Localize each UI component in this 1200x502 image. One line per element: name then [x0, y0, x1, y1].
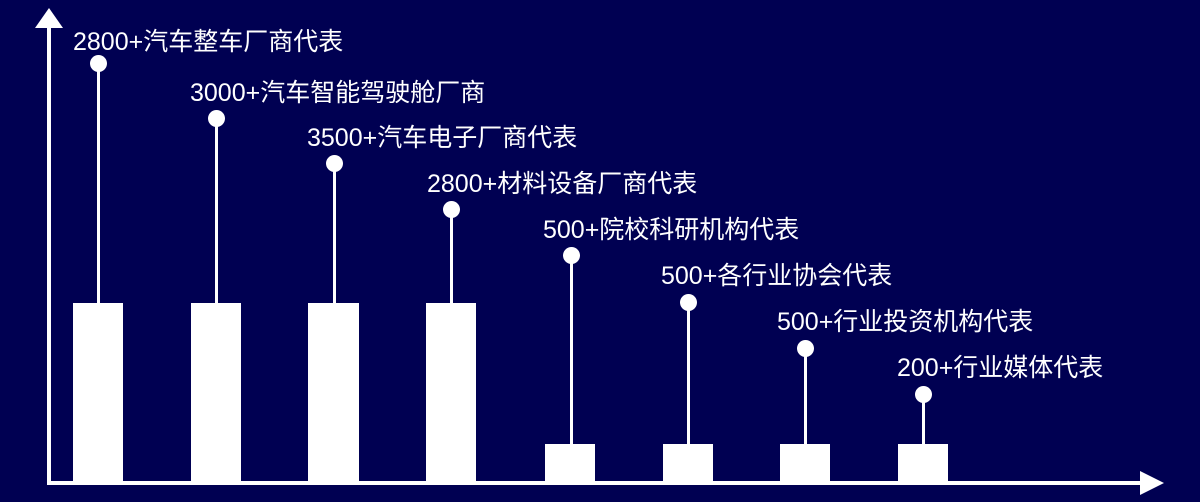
bar — [780, 444, 830, 481]
chart-canvas: 2800+汽车整车厂商代表3000+汽车智能驾驶舱厂商3500+汽车电子厂商代表… — [0, 0, 1200, 502]
callout-stem — [804, 348, 807, 444]
callout-dot-icon — [443, 201, 460, 218]
callout-stem — [450, 209, 453, 303]
bar-callout-label: 500+各行业协会代表 — [661, 261, 892, 291]
callout-stem — [333, 163, 336, 303]
callout-stem — [97, 63, 100, 303]
bar — [308, 303, 359, 481]
bar-callout-label: 3500+汽车电子厂商代表 — [307, 123, 577, 153]
bar — [545, 444, 595, 481]
bar — [663, 444, 713, 481]
x-axis-arrow-icon — [1140, 471, 1164, 495]
callout-dot-icon — [680, 294, 697, 311]
callout-dot-icon — [208, 110, 225, 127]
callout-stem — [570, 255, 573, 444]
callout-dot-icon — [563, 247, 580, 264]
bar-callout-label: 500+行业投资机构代表 — [777, 307, 1033, 337]
y-axis-line — [47, 22, 51, 485]
bar-callout-label: 2800+汽车整车厂商代表 — [73, 27, 343, 57]
bar — [426, 303, 476, 481]
bar-callout-label: 500+院校科研机构代表 — [543, 215, 799, 245]
bar — [191, 303, 241, 481]
callout-dot-icon — [797, 340, 814, 357]
bar — [73, 303, 123, 481]
bar-callout-label: 200+行业媒体代表 — [897, 353, 1103, 383]
callout-dot-icon — [915, 386, 932, 403]
bar — [898, 444, 948, 481]
x-axis-line — [47, 481, 1157, 485]
bar-callout-label: 2800+材料设备厂商代表 — [427, 169, 697, 199]
bar-callout-label: 3000+汽车智能驾驶舱厂商 — [190, 78, 485, 108]
callout-stem — [215, 118, 218, 303]
callout-stem — [687, 302, 690, 444]
callout-dot-icon — [326, 155, 343, 172]
callout-dot-icon — [90, 55, 107, 72]
